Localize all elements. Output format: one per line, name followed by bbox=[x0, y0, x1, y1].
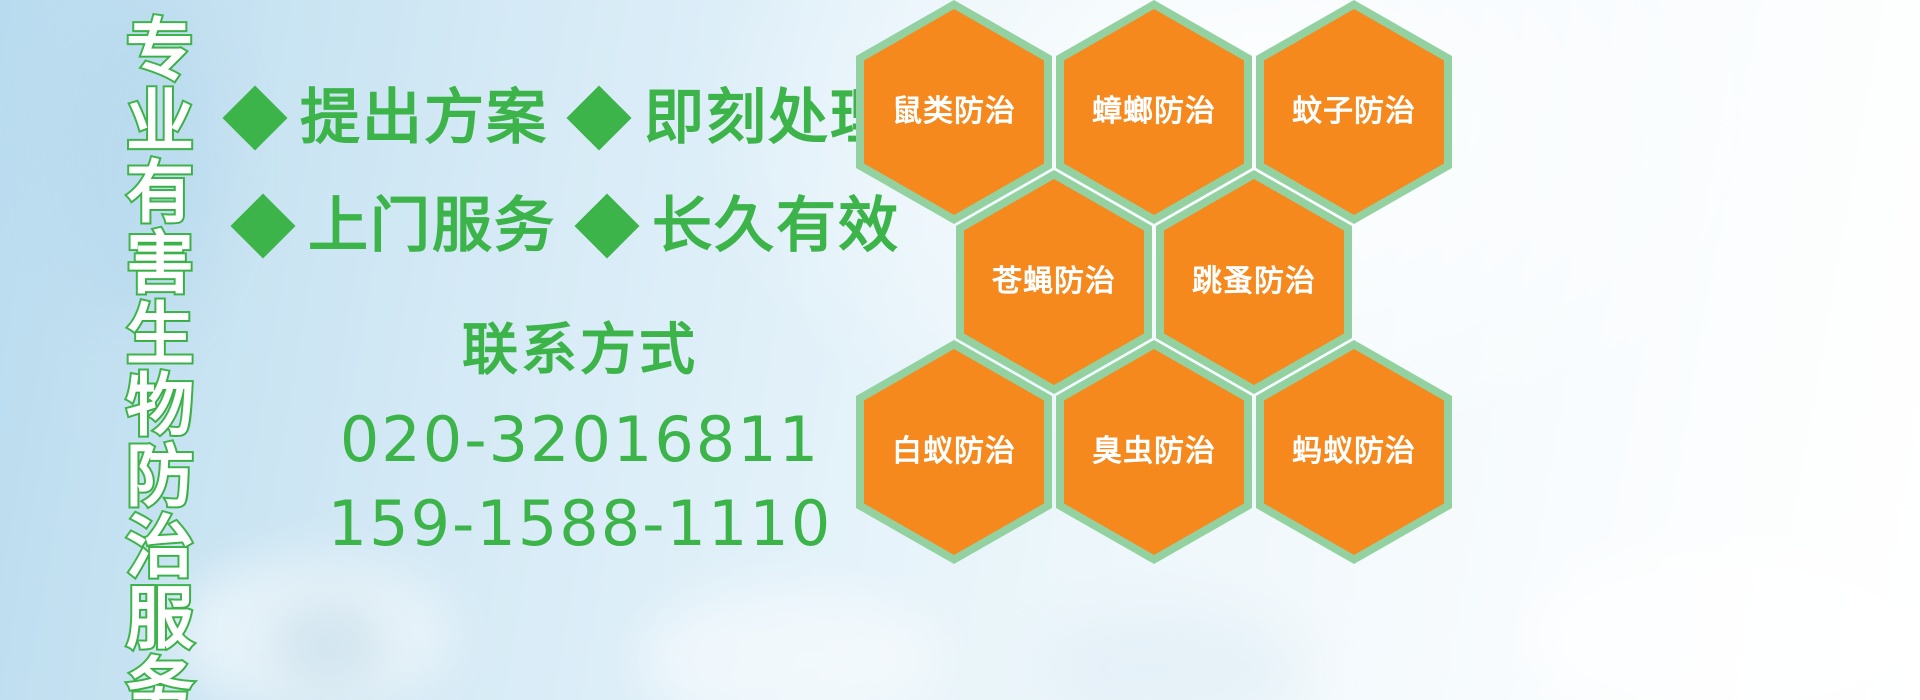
hex-inner: 蚂蚁防治 bbox=[1264, 349, 1444, 555]
vertical-title-char: 害 bbox=[126, 229, 194, 300]
hex-inner: 白蚁防治 bbox=[864, 349, 1044, 555]
feature-row-2: 上门服务 长久有效 bbox=[240, 196, 900, 256]
feature-label: 提出方案 bbox=[300, 88, 548, 148]
background-haze-d bbox=[1040, 610, 1300, 700]
vertical-title-char: 物 bbox=[126, 371, 194, 442]
hex-inner: 鼠类防治 bbox=[864, 9, 1044, 215]
hex-label: 跳蚤防治 bbox=[1192, 265, 1316, 299]
hex-label: 臭虫防治 bbox=[1092, 435, 1216, 469]
feature-label: 即刻处理 bbox=[644, 88, 892, 148]
feature-item-propose-plan: 提出方案 bbox=[232, 88, 548, 148]
feature-item-onsite-service: 上门服务 bbox=[240, 196, 556, 256]
vertical-title-char: 业 bbox=[126, 87, 194, 158]
background-haze-c bbox=[640, 590, 940, 700]
hex-label: 苍蝇防治 bbox=[992, 265, 1116, 299]
contact-block: 联系方式 020-32016811 159-1588-1110 bbox=[300, 318, 860, 566]
hex-label: 蚂蚁防治 bbox=[1292, 435, 1416, 469]
diamond-icon bbox=[566, 85, 631, 150]
feature-item-long-lasting: 长久有效 bbox=[584, 196, 900, 256]
service-hex-grid: 鼠类防治 蟑螂防治 蚊子防治 苍蝇防治 跳蚤防治 白蚁防治 bbox=[856, 0, 1476, 564]
background-haze-e bbox=[1520, 540, 1920, 700]
hex-inner: 臭虫防治 bbox=[1064, 349, 1244, 555]
feature-label: 上门服务 bbox=[308, 196, 556, 256]
vertical-title-char: 治 bbox=[126, 513, 194, 584]
hex-inner: 蟑螂防治 bbox=[1064, 9, 1244, 215]
promo-banner: 专 业 有 害 生 物 防 治 服 务 提出方案 即刻处理 上门服务 长久有效 bbox=[0, 0, 1920, 700]
phone-landline[interactable]: 020-32016811 bbox=[300, 398, 860, 482]
phone-mobile[interactable]: 159-1588-1110 bbox=[300, 482, 860, 566]
vertical-title-char: 防 bbox=[126, 442, 194, 513]
diamond-icon bbox=[230, 193, 295, 258]
vertical-title-char: 有 bbox=[126, 158, 194, 229]
hex-label: 蟑螂防治 bbox=[1092, 95, 1216, 129]
vertical-title-char: 务 bbox=[126, 655, 194, 700]
vertical-title-char: 服 bbox=[126, 584, 194, 655]
hex-inner: 蚊子防治 bbox=[1264, 9, 1444, 215]
vertical-title-char: 专 bbox=[126, 16, 194, 87]
hex-inner: 跳蚤防治 bbox=[1164, 179, 1344, 385]
contact-heading: 联系方式 bbox=[300, 318, 860, 384]
background-haze-b bbox=[270, 600, 390, 690]
hex-label: 蚊子防治 bbox=[1292, 95, 1416, 129]
feature-item-immediate-handling: 即刻处理 bbox=[576, 88, 892, 148]
hex-label: 白蚁防治 bbox=[892, 435, 1016, 469]
diamond-icon bbox=[574, 193, 639, 258]
vertical-title-char: 生 bbox=[126, 300, 194, 371]
vertical-title: 专 业 有 害 生 物 防 治 服 务 bbox=[104, 16, 216, 684]
diamond-icon bbox=[222, 85, 287, 150]
hex-label: 鼠类防治 bbox=[892, 95, 1016, 129]
feature-row-1: 提出方案 即刻处理 bbox=[232, 88, 892, 148]
hex-inner: 苍蝇防治 bbox=[964, 179, 1144, 385]
